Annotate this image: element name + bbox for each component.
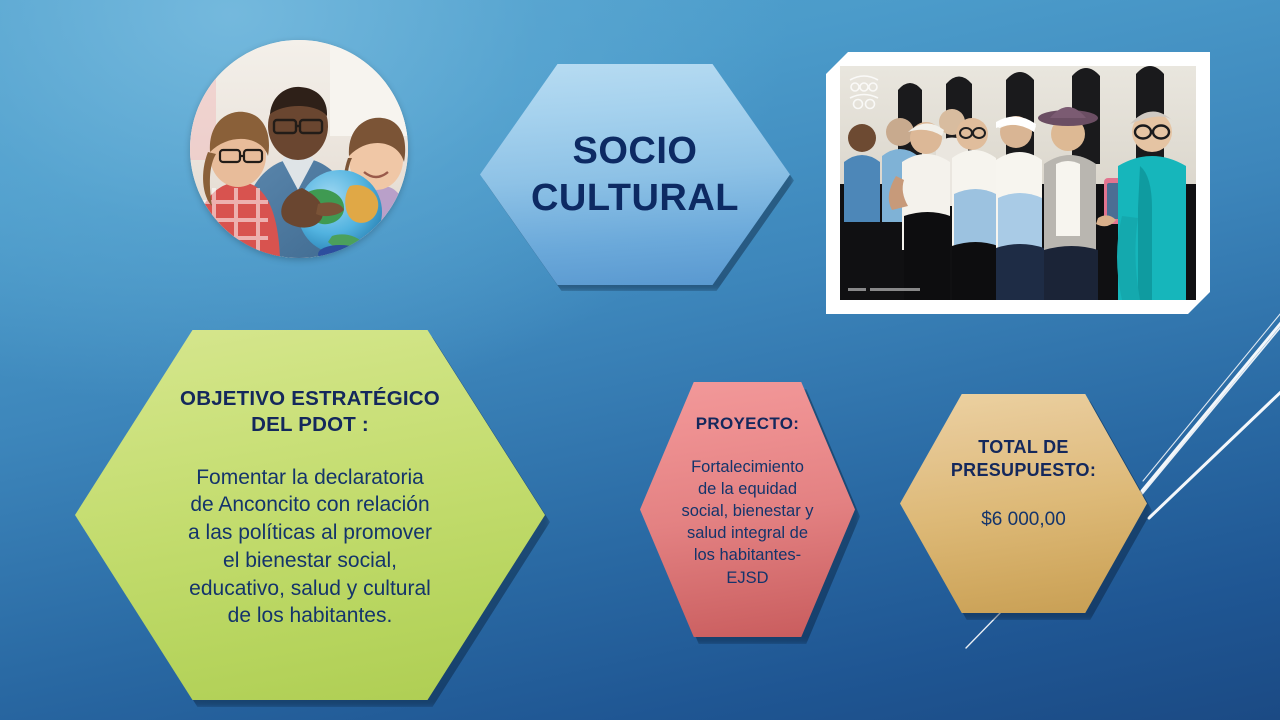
budget-heading: TOTAL DE PRESUPUESTO: [951,436,1096,481]
project-body-line-4: salud integral de [681,522,813,544]
budget-amount: $6 000,00 [981,509,1066,531]
objective-body-line-6: de los habitantes. [188,602,432,630]
objective-heading: OBJETIVO ESTRATÉGICO DEL PDOT : [180,386,440,438]
photo-inner [840,66,1196,300]
objective-body-line-3: a las políticas al promover [188,519,432,547]
objective-body-line-2: de Anconcito con relación [188,491,432,519]
objective-hexagon: OBJETIVO ESTRATÉGICO DEL PDOT : Fomentar… [75,330,545,700]
budget-heading-line-2: PRESUPUESTO: [951,459,1096,482]
title-line-1: SOCIO [573,128,698,174]
project-body-line-1: Fortalecimiento [681,456,813,478]
photo-seated-elderly-people [826,52,1210,314]
objective-body-line-4: el bienestar social, [188,547,432,575]
project-body: Fortalecimiento de la equidad social, bi… [681,456,813,589]
photo-teacher-with-children [190,40,408,258]
project-body-line-6: EJSD [681,567,813,589]
objective-body: Fomentar la declaratoria de Anconcito co… [188,464,432,630]
project-body-line-2: de la equidad [681,478,813,500]
objective-body-line-1: Fomentar la declaratoria [188,464,432,492]
project-body-line-5: los habitantes- [681,544,813,566]
objective-heading-line-2: DEL PDOT : [180,412,440,438]
budget-heading-line-1: TOTAL DE [951,436,1096,459]
project-heading: PROYECTO: [696,414,799,434]
title-line-2: CULTURAL [531,175,739,221]
objective-heading-line-1: OBJETIVO ESTRATÉGICO [180,386,440,412]
objective-body-line-5: educativo, salud y cultural [188,575,432,603]
slide-canvas: SOCIO CULTURAL OBJETIVO ESTRATÉGICO DEL … [0,0,1280,720]
project-body-line-3: social, bienestar y [681,500,813,522]
